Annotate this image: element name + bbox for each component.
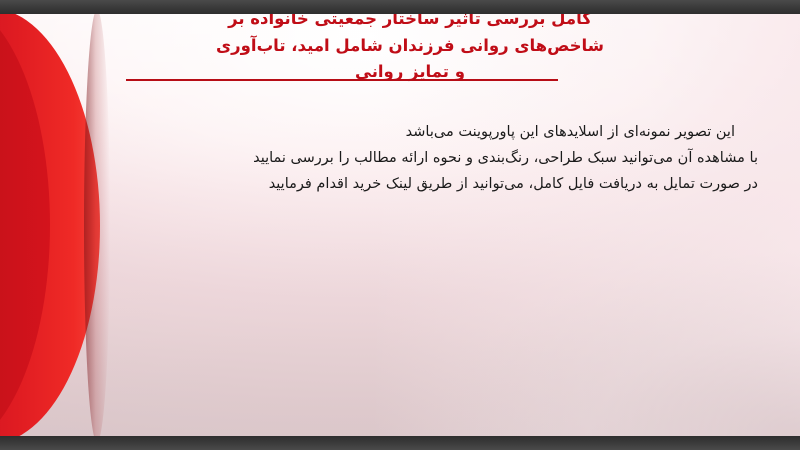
- slide-canvas: کامل بررسی تأثیر ساختار جمعیتی خانواده ب…: [0, 0, 800, 450]
- slide-body-line-2: با مشاهده آن می‌توانید سبک طراحی، رنگ‌بن…: [110, 146, 758, 172]
- slide-body-line-1: این تصویر نمونه‌ای از اسلایدهای این پاور…: [110, 120, 758, 146]
- slide-body-text: این تصویر نمونه‌ای از اسلایدهای این پاور…: [110, 120, 758, 197]
- bottom-dark-band: [0, 436, 800, 450]
- slide-title-line-2: شاخص‌های روانی فرزندان شامل امید، تاب‌آو…: [110, 33, 710, 60]
- slide-title: کامل بررسی تأثیر ساختار جمعیتی خانواده ب…: [110, 6, 710, 86]
- slide-body-line-3: در صورت تمایل به دریافت فایل کامل، می‌تو…: [110, 172, 758, 198]
- slide-title-line-3: و تمایز روانی: [110, 59, 710, 86]
- left-red-ellipse-shadow: [84, 10, 110, 442]
- background-vignette: [280, 226, 800, 436]
- title-divider-rule: [126, 79, 558, 81]
- top-dark-band: [0, 0, 800, 14]
